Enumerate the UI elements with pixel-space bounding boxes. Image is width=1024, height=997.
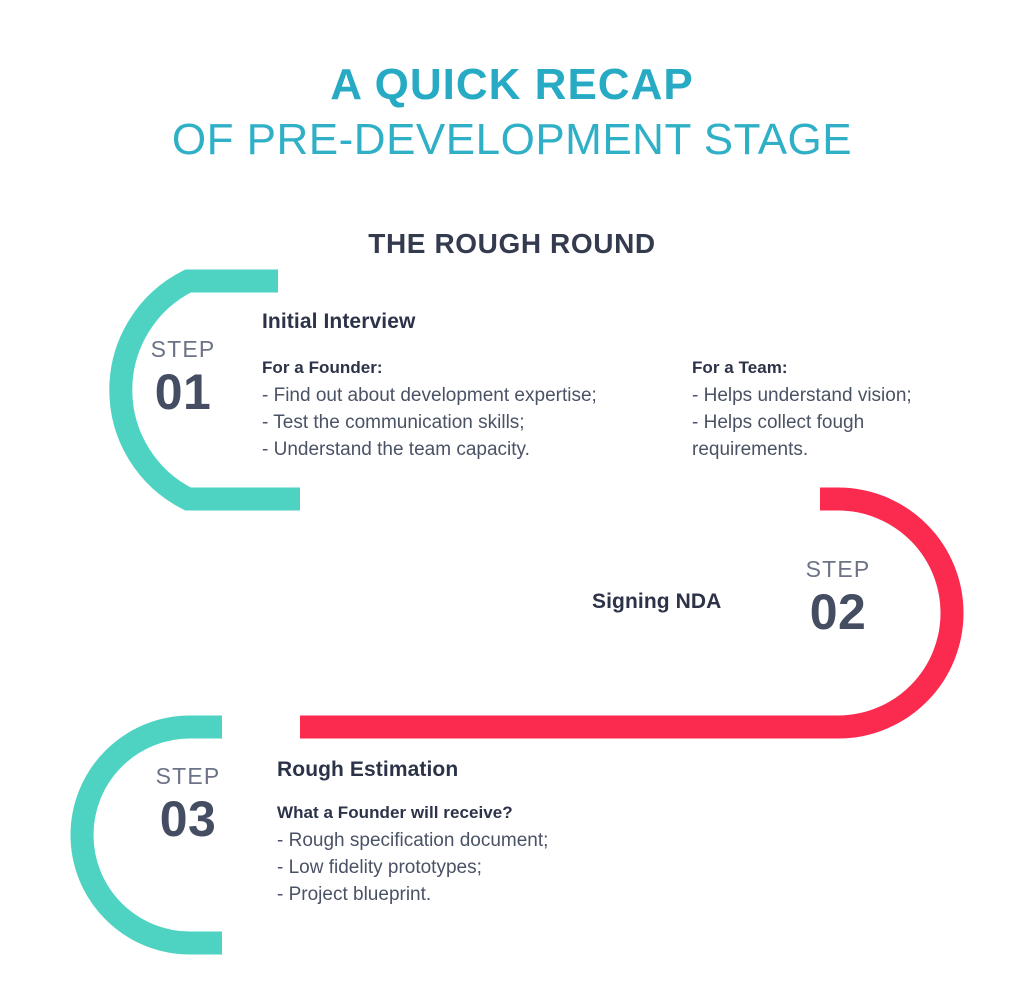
step-01-team-line-2: - Helps collect fough requirements. (692, 410, 962, 464)
step-01-number-block: STEP 01 (133, 338, 233, 419)
step-03-number-block: STEP 03 (138, 765, 238, 846)
infographic-canvas: A QUICK RECAP OF PRE-DEVELOPMENT STAGE T… (0, 0, 1024, 997)
step-02-number-block: STEP 02 (788, 558, 888, 639)
step-03-founder-line-2: - Low fidelity prototypes; (277, 855, 757, 882)
step-03-digits: 03 (138, 792, 238, 846)
section-heading: THE ROUGH ROUND (0, 228, 1024, 260)
step-03-founder-heading: What a Founder will receive? (277, 803, 757, 823)
step-01-founder-line-2: - Test the communication skills; (262, 410, 682, 437)
step-01-column-team: For a Team: - Helps understand vision; -… (692, 358, 962, 464)
step-01-founder-line-1: - Find out about development expertise; (262, 383, 682, 410)
step-03-title: Rough Estimation (277, 758, 458, 782)
page-title: A QUICK RECAP OF PRE-DEVELOPMENT STAGE (0, 60, 1024, 165)
step-03-founder-line-3: - Project blueprint. (277, 882, 757, 909)
step-01-label: STEP (133, 338, 233, 361)
step-02-digits: 02 (788, 585, 888, 639)
step-01-digits: 01 (133, 365, 233, 419)
step-02-title: Signing NDA (592, 590, 721, 614)
step-03-column-founder: What a Founder will receive? - Rough spe… (277, 803, 757, 909)
step-01-team-heading: For a Team: (692, 358, 962, 378)
step-01-column-founder: For a Founder: - Find out about developm… (262, 358, 682, 464)
step-03-founder-line-1: - Rough specification document; (277, 828, 757, 855)
step-03-label: STEP (138, 765, 238, 788)
step-01-team-line-1: - Helps understand vision; (692, 383, 962, 410)
step-01-founder-heading: For a Founder: (262, 358, 682, 378)
title-line-2: OF PRE-DEVELOPMENT STAGE (0, 115, 1024, 164)
step-01-title: Initial Interview (262, 310, 415, 334)
step-02-label: STEP (788, 558, 888, 581)
title-line-1: A QUICK RECAP (0, 60, 1024, 109)
step-01-founder-line-3: - Understand the team capacity. (262, 437, 682, 464)
